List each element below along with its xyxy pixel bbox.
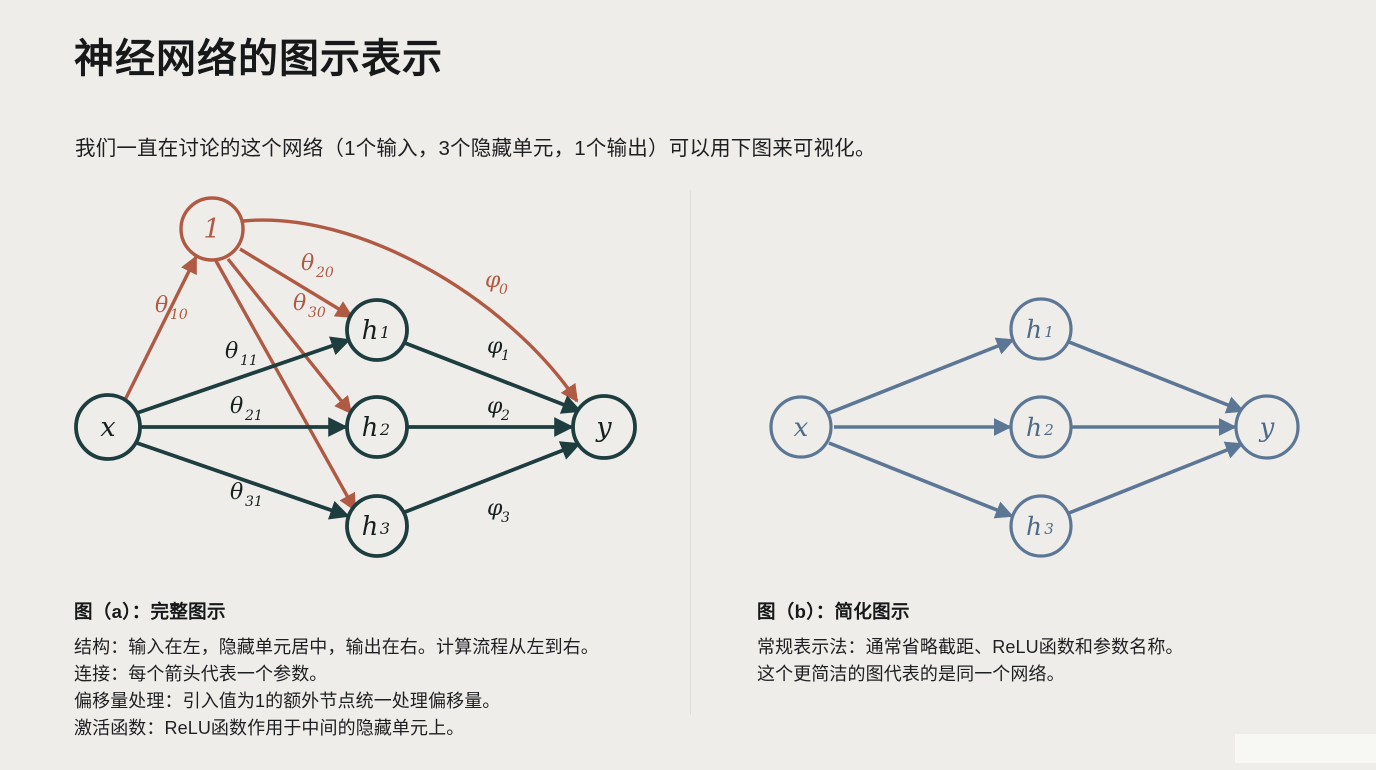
theta10-sub: 10	[170, 307, 188, 323]
corner-patch	[1235, 734, 1376, 763]
phi2-sub: 2	[500, 408, 510, 424]
edge-label-theta21: θ 21	[230, 394, 263, 424]
caption-b-line-1: 常规表示法：通常省略截距、ReLU函数和参数名称。	[757, 634, 1317, 661]
node-b-h3[interactable]: h 3	[1011, 496, 1071, 556]
edge-label-theta11: θ 11	[225, 339, 258, 369]
full-network-diagram: 1 x h 1 h 2 h 3	[55, 185, 685, 585]
edges-group-a	[125, 220, 580, 516]
node-b-x-label: x	[794, 413, 809, 443]
theta31-sub: 31	[245, 494, 263, 510]
theta11-glyph: θ	[225, 339, 238, 364]
edge-label-phi2: φ 2	[487, 394, 510, 424]
node-b-h2-sub: 2	[1043, 421, 1054, 439]
node-b-h3-label: h	[1026, 512, 1042, 541]
node-bias[interactable]: 1	[181, 198, 243, 260]
edge-b-h3-to-y	[1069, 444, 1242, 513]
node-b-x[interactable]: x	[771, 397, 831, 457]
theta20-sub: 20	[315, 265, 334, 281]
theta20-glyph: θ	[301, 251, 314, 276]
node-x-label: x	[100, 412, 115, 443]
caption-full-diagram: 图（a）：完整图示 结构：输入在左，隐藏单元居中，输出在右。计算流程从左到右。 …	[74, 598, 674, 742]
slide-root: 神经网络的图示表示 我们一直在讨论的这个网络（1个输入，3个隐藏单元，1个输出）…	[0, 0, 1376, 770]
node-h1-label: h	[362, 316, 379, 346]
theta21-glyph: θ	[230, 394, 243, 419]
node-y-label: y	[595, 412, 612, 443]
nodes-group-a: 1 x h 1 h 2 h 3	[76, 198, 635, 556]
theta31-glyph: θ	[230, 480, 243, 505]
phi3-sub: 3	[501, 510, 510, 526]
edge-b-x-to-h3	[829, 443, 1012, 516]
caption-a-line-2: 连接：每个箭头代表一个参数。	[74, 661, 674, 688]
edge-label-theta10: θ 10	[155, 293, 188, 323]
edge-b-x-to-h1	[829, 340, 1013, 413]
theta21-sub: 21	[244, 408, 263, 424]
node-bias-label: 1	[203, 214, 220, 245]
caption-a-title: 图（a）：完整图示	[74, 598, 674, 624]
node-x[interactable]: x	[76, 395, 140, 459]
edge-label-phi0: φ 0	[485, 268, 508, 298]
node-h2-sub: 2	[379, 420, 390, 439]
phi0-sub: 0	[499, 282, 508, 298]
theta30-sub: 30	[308, 305, 326, 321]
caption-b-line-2: 这个更简洁的图代表的是同一个网络。	[757, 661, 1317, 688]
node-b-y-label: y	[1259, 413, 1275, 443]
edge-b-h1-to-y	[1069, 342, 1243, 411]
node-h3-label: h	[362, 512, 379, 542]
node-b-h2[interactable]: h 2	[1011, 397, 1071, 457]
theta10-glyph: θ	[155, 293, 168, 318]
node-b-h2-label: h	[1026, 413, 1042, 442]
caption-b-title: 图（b）：简化图示	[757, 598, 1317, 624]
theta30-glyph: θ	[293, 291, 306, 316]
caption-a-line-4: 激活函数：ReLU函数作用于中间的隐藏单元上。	[74, 715, 674, 742]
edge-label-theta30: θ 30	[293, 291, 326, 321]
node-h3-sub: 3	[380, 519, 390, 538]
edge-bias-to-h3	[216, 261, 355, 510]
node-h2[interactable]: h 2	[347, 397, 407, 457]
caption-simplified-diagram: 图（b）：简化图示 常规表示法：通常省略截距、ReLU函数和参数名称。 这个更简…	[757, 598, 1317, 688]
page-title: 神经网络的图示表示	[74, 26, 443, 84]
caption-a-line-1: 结构：输入在左，隐藏单元居中，输出在右。计算流程从左到右。	[74, 634, 674, 661]
node-b-h1-sub: 1	[1044, 323, 1054, 341]
edge-label-theta20: θ 20	[301, 251, 334, 281]
node-y[interactable]: y	[573, 396, 635, 458]
node-b-y[interactable]: y	[1236, 396, 1298, 458]
caption-a-line-3: 偏移量处理：引入值为1的额外节点统一处理偏移量。	[74, 688, 674, 715]
edge-x-to-bias	[125, 257, 196, 400]
node-h3[interactable]: h 3	[347, 496, 407, 556]
edge-label-phi1: φ 1	[487, 334, 510, 364]
node-h1[interactable]: h 1	[347, 300, 407, 360]
node-h2-label: h	[362, 413, 379, 443]
node-b-h3-sub: 3	[1044, 520, 1054, 538]
node-b-h1-label: h	[1026, 315, 1042, 344]
phi1-sub: 1	[501, 348, 510, 364]
theta11-sub: 11	[240, 353, 258, 369]
panel-divider	[690, 190, 691, 715]
edge-label-phi3: φ 3	[487, 496, 510, 526]
page-subtitle: 我们一直在讨论的这个网络（1个输入，3个隐藏单元，1个输出）可以用下图来可视化。	[75, 131, 876, 161]
node-b-h1[interactable]: h 1	[1011, 299, 1071, 359]
simplified-network-diagram: x h 1 h 2 h 3 y	[720, 185, 1340, 585]
node-h1-sub: 1	[380, 323, 390, 342]
